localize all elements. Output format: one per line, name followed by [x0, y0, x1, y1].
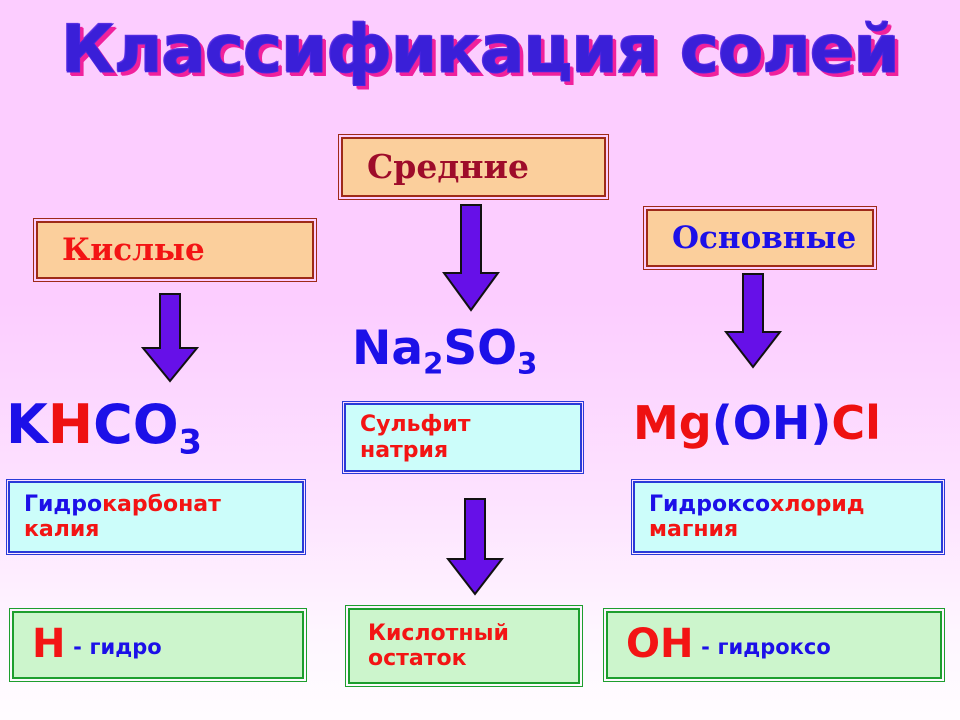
note-box-middle: Кислотный остаток	[348, 608, 580, 684]
name-line-2: натрия	[360, 438, 580, 463]
name-box-middle: Сульфит натрия	[344, 403, 582, 472]
formula-middle: Na2SO3	[352, 325, 537, 372]
category-box-acid: Кислые	[36, 221, 314, 279]
note-symbol-acid: H	[32, 621, 65, 667]
name-box-acid: Гидрокарбонат калия	[8, 481, 304, 553]
category-label-middle: Средние	[367, 150, 604, 185]
note-text-acid: H - гидро	[32, 622, 302, 668]
name-prefix-acid: Гидро	[24, 492, 102, 517]
category-label-acid: Кислые	[62, 234, 312, 267]
down-arrow-icon-middle-bottom	[444, 497, 506, 602]
category-box-middle: Средние	[341, 137, 606, 197]
name-rest-acid: карбонат	[102, 492, 221, 517]
formula-middle-part-3: 3	[517, 346, 537, 380]
formula-middle-part-0: Na	[352, 321, 423, 376]
formula-basic-part-0: Mg	[633, 396, 712, 450]
formula-basic-part-2: Cl	[831, 396, 881, 450]
note-dash-acid: -	[73, 635, 82, 659]
name-line-1: Гидрокарбонат	[24, 492, 302, 517]
name-line-2: калия	[24, 517, 302, 542]
formula-acid-part-0: K	[6, 393, 48, 456]
formula-basic: Mg(OH)Cl	[633, 400, 881, 446]
name-line-1: Гидроксохлорид	[649, 492, 941, 517]
formula-acid-part-1: H	[48, 393, 93, 456]
note-box-basic: OH - гидроксо	[606, 611, 942, 679]
category-label-basic: Основные	[672, 222, 872, 255]
down-arrow-icon-basic	[722, 272, 784, 375]
down-arrow-icon-acid	[139, 292, 201, 389]
name-rest-basic: хлорид	[770, 492, 864, 517]
note-suffix-basic: гидроксо	[718, 635, 831, 659]
note-symbol-basic: OH	[626, 621, 693, 667]
formula-acid-part-2: CO	[93, 393, 179, 456]
note-box-acid: H - гидро	[12, 611, 304, 679]
note-line-2: остаток	[368, 646, 578, 671]
formula-basic-part-1: (OH)	[712, 396, 832, 450]
name-line-2: магния	[649, 517, 941, 542]
formula-middle-part-2: SO	[443, 321, 517, 376]
name-line-1: Сульфит	[360, 412, 580, 437]
note-suffix-acid: гидро	[90, 635, 162, 659]
formula-acid: KHCO3	[6, 398, 202, 452]
name-prefix-basic: Гидроксо	[649, 492, 770, 517]
page-title: Классификация солей	[0, 14, 960, 87]
formula-acid-part-3: 3	[179, 423, 202, 462]
note-line-1: Кислотный	[368, 621, 578, 646]
category-box-basic: Основные	[646, 209, 874, 267]
name-box-basic: Гидроксохлорид магния	[633, 481, 943, 553]
note-dash-basic: -	[701, 635, 710, 659]
note-text-basic: OH - гидроксо	[626, 622, 940, 668]
formula-middle-part-1: 2	[423, 346, 443, 380]
down-arrow-icon-middle-top	[440, 203, 502, 318]
